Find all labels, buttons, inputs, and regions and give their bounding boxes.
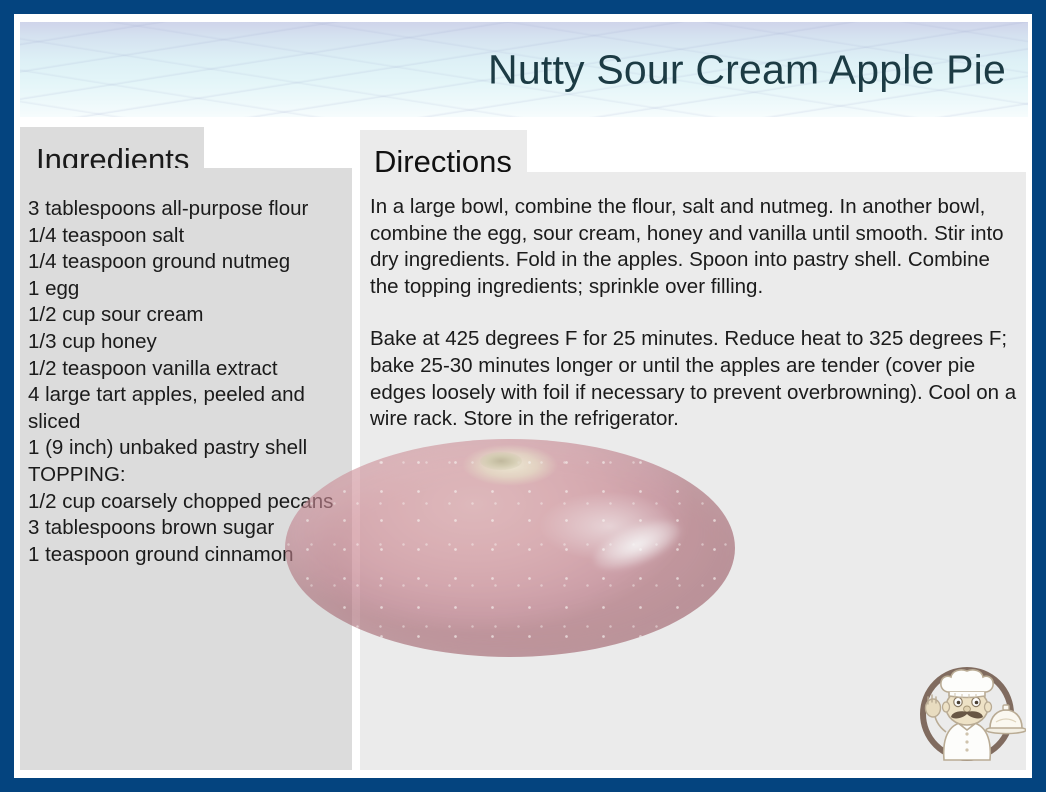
list-item: 1 (9 inch) unbaked pastry shell: [28, 435, 358, 462]
list-item: 1/4 teaspoon ground nutmeg: [28, 249, 358, 276]
list-item: 1/4 teaspoon salt: [28, 223, 358, 250]
list-item: 1/2 teaspoon vanilla extract: [28, 356, 358, 383]
directions-panel: In a large bowl, combine the flour, salt…: [360, 172, 1026, 770]
list-item: 1/2 cup coarsely chopped pecans: [28, 489, 358, 516]
ingredients-list: 3 tablespoons all-purpose flour 1/4 teas…: [28, 196, 358, 568]
list-item: 1 egg: [28, 276, 358, 303]
directions-paragraph: Bake at 425 degrees F for 25 minutes. Re…: [370, 326, 1018, 432]
list-item: 1 teaspoon ground cinnamon: [28, 542, 358, 569]
directions-paragraph: In a large bowl, combine the flour, salt…: [370, 194, 1018, 300]
list-item: 3 tablespoons brown sugar: [28, 515, 358, 542]
list-item: 4 large tart apples, peeled and sliced: [28, 382, 358, 435]
list-item: TOPPING:: [28, 462, 358, 489]
header-banner: Nutty Sour Cream Apple Pie: [20, 22, 1028, 117]
list-item: 1/3 cup honey: [28, 329, 358, 356]
recipe-card-inner: Nutty Sour Cream Apple Pie Ingredients 3…: [14, 14, 1032, 778]
list-item: 1/2 cup sour cream: [28, 302, 358, 329]
recipe-card: Nutty Sour Cream Apple Pie Ingredients 3…: [0, 0, 1046, 792]
ingredients-panel: 3 tablespoons all-purpose flour 1/4 teas…: [20, 168, 352, 770]
list-item: 3 tablespoons all-purpose flour: [28, 196, 358, 223]
directions-body: In a large bowl, combine the flour, salt…: [370, 194, 1018, 433]
page-title: Nutty Sour Cream Apple Pie: [488, 46, 1006, 93]
